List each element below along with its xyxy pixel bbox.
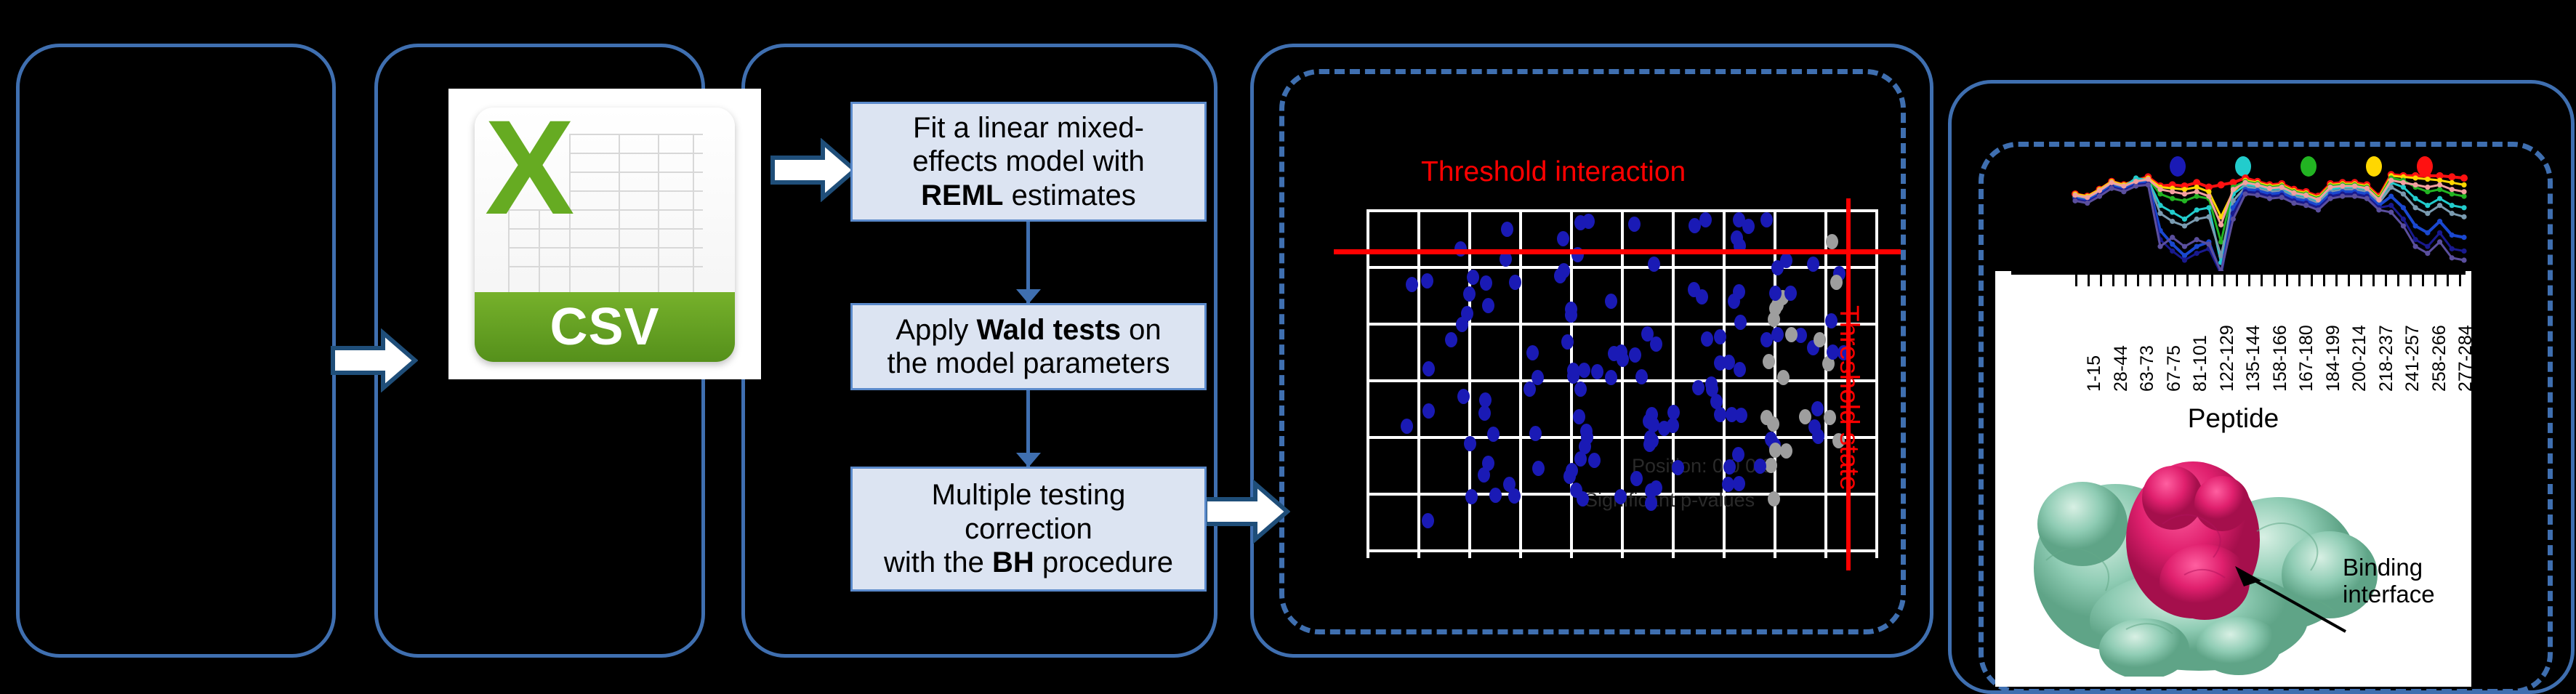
chart-marker (2146, 182, 2151, 187)
x-tick (2286, 275, 2288, 286)
chart-marker (2170, 241, 2175, 246)
scatter-point (1501, 222, 1513, 237)
scatter-point (1526, 345, 1539, 360)
x-tick (2162, 275, 2164, 286)
chart-marker (2316, 197, 2321, 202)
csv-file-icon: X CSV (448, 89, 761, 379)
chart-marker (2157, 191, 2162, 196)
chart-marker (2267, 196, 2272, 201)
x-tick-label: 67-75 (2164, 345, 2185, 392)
chart-marker (2170, 196, 2175, 201)
scatter-point (1763, 354, 1775, 369)
arrow-input-to-data (331, 328, 418, 392)
chart-marker (2182, 257, 2187, 262)
scatter-point (1699, 212, 1712, 227)
binding-label-line2: interface (2343, 581, 2435, 608)
scatter-point (1714, 355, 1726, 371)
chart-marker (2170, 219, 2175, 224)
x-tick-label: 63-73 (2137, 345, 2158, 392)
scatter-point (1784, 286, 1797, 301)
chart-marker (2206, 194, 2211, 199)
scatter-point (1635, 369, 1648, 384)
chart-marker (2291, 201, 2296, 206)
chart-marker (2388, 209, 2394, 214)
excel-x-mark: X (485, 113, 594, 230)
scatter-plot: Significant p-values Position: 0.0 0.0 (1367, 209, 1875, 558)
chart-marker (2461, 194, 2466, 199)
chart-marker (2460, 174, 2468, 182)
chart-marker (2327, 185, 2333, 190)
binding-label-line1: Binding (2343, 554, 2435, 581)
box-mt-pre: with the (884, 546, 992, 578)
chart-marker (2450, 255, 2455, 260)
x-tick (2211, 275, 2213, 286)
box-wald-bold: Wald tests (977, 314, 1122, 346)
csv-label-band: CSV (475, 292, 735, 362)
chart-marker (2255, 182, 2260, 187)
chart-marker (2072, 198, 2077, 203)
scatter-point (1689, 218, 1701, 233)
chart-marker (2364, 196, 2370, 201)
x-tick-label: 167-180 (2296, 325, 2317, 392)
scatter-point (1464, 436, 1476, 451)
box-mt-line2: correction (965, 513, 1092, 545)
scatter-point (1734, 315, 1747, 330)
box-wald-pre: Apply (895, 314, 976, 346)
scatter-point (1650, 480, 1662, 496)
x-tick (2298, 275, 2301, 286)
scatter-point (1401, 419, 1413, 434)
box-mt-bh: BH (992, 546, 1034, 578)
chart-marker (2085, 201, 2090, 206)
box-fit-model-line2: effects model with (912, 145, 1144, 177)
x-tick-label: 241-257 (2402, 325, 2423, 392)
box-fit-model-line1: Fit a linear mixed- (913, 112, 1144, 144)
chart-marker (2461, 189, 2466, 194)
chart-marker (2218, 222, 2223, 227)
chart-marker (2450, 246, 2455, 251)
chart-marker (2413, 205, 2418, 210)
scatter-point (1529, 426, 1542, 441)
chart-marker (2340, 183, 2345, 188)
chart-marker (2121, 189, 2126, 194)
x-tick (2261, 275, 2263, 286)
scatter-point (1771, 327, 1784, 342)
chart-marker (2242, 191, 2247, 196)
chart-marker (2133, 179, 2138, 184)
scatter-point (1646, 433, 1659, 448)
scatter-point (1692, 380, 1704, 395)
x-tick (2385, 275, 2387, 286)
scatter-point (1769, 286, 1782, 301)
chart-marker (2437, 219, 2442, 224)
chart-marker (2133, 183, 2138, 188)
chart-marker (2182, 191, 2187, 196)
scatter-point (1672, 460, 1684, 475)
x-tick (2434, 275, 2436, 286)
chart-marker (2461, 257, 2466, 262)
chart-marker (2303, 203, 2309, 208)
chart-marker (2303, 193, 2309, 198)
scatter-point (1723, 459, 1736, 475)
chart-marker (2413, 244, 2418, 249)
chart-marker (2194, 217, 2199, 222)
chart-marker (2413, 175, 2418, 180)
chart-marker (2450, 233, 2455, 238)
chart-marker (2425, 251, 2430, 256)
x-tick-label: 28-44 (2111, 345, 2132, 392)
scatter-point (1696, 289, 1708, 304)
chart-marker (2425, 203, 2430, 208)
input-panel (16, 44, 336, 658)
scatter-point (1769, 443, 1782, 458)
x-tick-label: 1-15 (2084, 355, 2105, 392)
scatter-point (1785, 327, 1798, 342)
chart-marker (2182, 217, 2187, 222)
chart-marker (2388, 185, 2394, 190)
chart-marker (2425, 211, 2430, 216)
chart-marker (2267, 186, 2272, 191)
chart-marker (2182, 244, 2187, 249)
chart-marker (2437, 178, 2442, 183)
chart-marker (2388, 178, 2394, 183)
chart-marker (2157, 187, 2162, 192)
chart-marker (2194, 189, 2199, 194)
x-tick (2125, 275, 2127, 286)
chart-marker (2425, 230, 2430, 235)
scatter-point (1608, 346, 1620, 361)
x-tick-label: 158-166 (2270, 325, 2291, 392)
x-tick (2100, 275, 2102, 286)
scatter-point (1489, 488, 1502, 503)
x-tick (2410, 275, 2412, 286)
scatter-point (1557, 231, 1569, 246)
scatter-point (1768, 312, 1780, 327)
box-multiple-testing[interactable]: Multiple testing correction with the BH … (850, 467, 1207, 592)
threshold-interaction-label: Threshold interaction (1421, 156, 1686, 188)
x-tick (2075, 275, 2077, 286)
scatter-point (1406, 277, 1418, 292)
arrow-data-to-model (770, 138, 858, 202)
chart-marker (2170, 189, 2175, 194)
scatter-point (1605, 294, 1617, 309)
x-tick (2248, 275, 2250, 286)
connector-fit-to-wald (1026, 222, 1030, 303)
scatter-point (1765, 458, 1777, 473)
scatter-point (1714, 407, 1726, 422)
peptide-line-chart (1995, 156, 2471, 276)
threshold-state-label: Threshold state (1834, 305, 1864, 491)
chart-marker (2109, 180, 2114, 185)
chart-marker (2242, 180, 2247, 185)
scatter-point (1807, 257, 1819, 272)
chart-marker (2376, 207, 2381, 212)
x-tick (2422, 275, 2424, 286)
scatter-point (1754, 459, 1766, 474)
scatter-point (1478, 467, 1490, 483)
chart-marker (2437, 196, 2442, 201)
x-tick (2274, 275, 2276, 286)
chart-marker (2231, 187, 2236, 192)
scatter-point (1532, 461, 1545, 476)
chart-marker (2461, 205, 2466, 210)
scatter-point (1735, 408, 1747, 423)
chart-marker (2437, 239, 2442, 244)
scatter-point (1445, 332, 1457, 347)
threshold-interaction-line (1334, 249, 1901, 254)
box-fit-model-line3-rest: estimates (1004, 179, 1136, 211)
scatter-point (1814, 332, 1826, 347)
x-tick (2335, 275, 2338, 286)
chart-marker (2255, 193, 2260, 198)
scatter-point (1456, 317, 1468, 332)
chart-marker (2413, 182, 2418, 187)
scatter-point (1811, 401, 1824, 416)
protein-surface-image (2017, 437, 2395, 677)
chart-marker (2194, 244, 2199, 249)
chart-marker (2182, 198, 2187, 203)
scatter-point (1630, 471, 1643, 486)
scatter-point (1768, 491, 1780, 507)
chart-marker (2425, 244, 2430, 249)
chart-marker (2437, 203, 2442, 208)
chart-marker (2182, 187, 2187, 192)
scatter-point (1767, 416, 1779, 432)
chart-marker (2182, 223, 2187, 228)
box-mt-post: procedure (1034, 546, 1173, 578)
x-tick (2186, 275, 2189, 286)
chart-marker (2437, 230, 2442, 235)
chart-marker (2437, 182, 2442, 187)
x-tick-label: 184-199 (2323, 325, 2344, 392)
chart-marker (2376, 197, 2381, 202)
chart-marker (2170, 235, 2175, 240)
chart-marker (2157, 211, 2162, 216)
x-tick (2459, 275, 2461, 286)
csv-label: CSV (550, 297, 659, 357)
x-tick (2348, 275, 2350, 286)
x-tick (2236, 275, 2238, 286)
scatter-point (1563, 469, 1576, 484)
scatter-point (1503, 477, 1516, 492)
chart-marker (2401, 205, 2406, 210)
chart-marker (2316, 207, 2321, 212)
diagram-canvas: X CSV Fit a linear mixed- effects model … (0, 0, 2576, 687)
scatter-faint-text-2: Significant p-values (1585, 489, 1755, 512)
chart-marker (2448, 173, 2455, 180)
scatter-point (1734, 362, 1746, 377)
x-tick (2397, 275, 2399, 286)
x-tick (2360, 275, 2362, 286)
x-tick (2149, 275, 2152, 286)
chart-marker (2401, 180, 2406, 185)
x-tick-label: 200-214 (2349, 325, 2370, 392)
scatter-point (1780, 443, 1792, 459)
arrow-stats-to-results (1203, 480, 1290, 544)
scatter-point (1554, 268, 1566, 283)
x-tick-label: 218-237 (2376, 325, 2397, 392)
x-tick-label: 277-284 (2455, 325, 2476, 392)
box-fit-model[interactable]: Fit a linear mixed- effects model with R… (850, 102, 1207, 222)
chart-marker (2401, 185, 2406, 190)
x-tick-label: 81-101 (2190, 335, 2211, 392)
chart-marker (2461, 214, 2466, 219)
x-axis-ticks (2011, 275, 2466, 286)
x-tick-label: 135-144 (2243, 325, 2264, 392)
box-wald-line2: the model parameters (887, 347, 1170, 379)
chart-marker (2121, 183, 2126, 188)
chart-marker (2194, 185, 2199, 190)
chart-marker (2206, 189, 2211, 194)
chart-marker (2388, 203, 2394, 208)
scatter-point (1728, 294, 1740, 309)
chart-marker (2413, 223, 2418, 228)
x-tick (2447, 275, 2449, 286)
scatter-point (1591, 364, 1603, 379)
scatter-point (1579, 439, 1591, 454)
chart-marker (2352, 194, 2357, 199)
chart-marker (2194, 207, 2199, 212)
chart-marker (2279, 185, 2285, 190)
x-tick (2311, 275, 2313, 286)
chart-marker (2206, 214, 2211, 219)
scatter-point (1422, 361, 1435, 376)
x-tick (2372, 275, 2375, 286)
scatter-point (1650, 336, 1662, 352)
scatter-faint-text-1: Position: 0.0 0.0 (1632, 455, 1773, 477)
x-tick-label: 122-129 (2217, 325, 2238, 392)
x-tick (2223, 275, 2226, 286)
chart-marker (2450, 211, 2455, 216)
csv-icon-body: X CSV (475, 108, 735, 362)
chart-marker (2450, 180, 2455, 185)
chart-marker (2401, 191, 2406, 196)
scatter-point (1731, 230, 1743, 246)
chart-marker (2231, 217, 2236, 222)
chart-marker (2146, 177, 2151, 182)
structure-figure: 0.0 1-1528-4463-7367-7581-101122-129135-… (1995, 271, 2471, 687)
chart-marker (2425, 189, 2430, 194)
box-mt-line1: Multiple testing (932, 479, 1126, 511)
x-axis-title: Peptide (1995, 403, 2471, 434)
x-tick (2471, 275, 2474, 286)
chart-marker (2194, 194, 2199, 199)
chart-marker (2085, 195, 2090, 200)
chart-marker (2218, 181, 2225, 188)
chart-marker (2450, 191, 2455, 196)
scatter-point (1457, 389, 1470, 404)
chart-marker (2206, 205, 2211, 210)
connector-wald-to-bh (1026, 390, 1030, 467)
chart-marker (2072, 193, 2077, 198)
x-tick (2137, 275, 2139, 286)
chart-marker (2157, 244, 2162, 249)
x-tick (2088, 275, 2090, 286)
chart-marker (2352, 183, 2357, 188)
box-wald-tests[interactable]: Apply Wald tests on the model parameters (850, 303, 1207, 390)
x-tick (2112, 275, 2114, 286)
box-fit-model-reml: REML (921, 179, 1003, 211)
chart-marker (2413, 196, 2418, 201)
chart-marker (2327, 196, 2333, 201)
chart-marker (2401, 217, 2406, 222)
chart-marker (2364, 186, 2370, 191)
x-tick (2199, 275, 2201, 286)
chart-marker (2461, 249, 2466, 254)
scatter-point (1777, 370, 1790, 385)
scatter-point (1733, 476, 1745, 491)
scatter-point (1509, 275, 1521, 290)
scatter-point (1760, 212, 1773, 227)
chart-marker (2279, 195, 2285, 200)
scatter-point (1646, 407, 1658, 422)
scatter-point (1422, 403, 1435, 419)
chart-marker (2170, 209, 2175, 214)
chart-marker (2450, 187, 2455, 192)
chart-marker (2450, 203, 2455, 208)
chart-marker (2461, 235, 2466, 240)
x-axis-labels: 1-1528-4463-7367-7581-101122-129135-1441… (2011, 289, 2466, 398)
scatter-point (1478, 405, 1491, 421)
scatter-point (1732, 447, 1744, 462)
chart-marker (2194, 251, 2199, 256)
x-tick-label: 258-266 (2429, 325, 2450, 392)
chart-marker (2401, 223, 2406, 228)
x-tick (2174, 275, 2176, 286)
chart-marker (2097, 188, 2102, 193)
binding-interface-label: Binding interface (2343, 554, 2435, 608)
chart-marker (2206, 241, 2211, 246)
chart-marker (2425, 177, 2430, 182)
chart-marker (2437, 187, 2442, 192)
chart-marker (2109, 186, 2114, 191)
x-tick (2323, 275, 2325, 286)
chart-marker (2194, 237, 2199, 242)
chart-marker (2097, 194, 2102, 199)
chart-marker (2461, 182, 2466, 187)
scatter-point (1780, 253, 1792, 268)
chart-marker (2291, 190, 2296, 195)
scatter-point (1588, 453, 1601, 468)
scatter-point (1658, 421, 1670, 436)
chart-marker (2425, 185, 2430, 190)
scatter-point (1580, 424, 1593, 439)
box-wald-post: on (1121, 314, 1162, 346)
chart-marker (2340, 194, 2345, 199)
chart-marker (2388, 194, 2394, 199)
scatter-point (1628, 217, 1641, 232)
chart-marker (2170, 249, 2175, 254)
scatter-point (1467, 270, 1479, 285)
